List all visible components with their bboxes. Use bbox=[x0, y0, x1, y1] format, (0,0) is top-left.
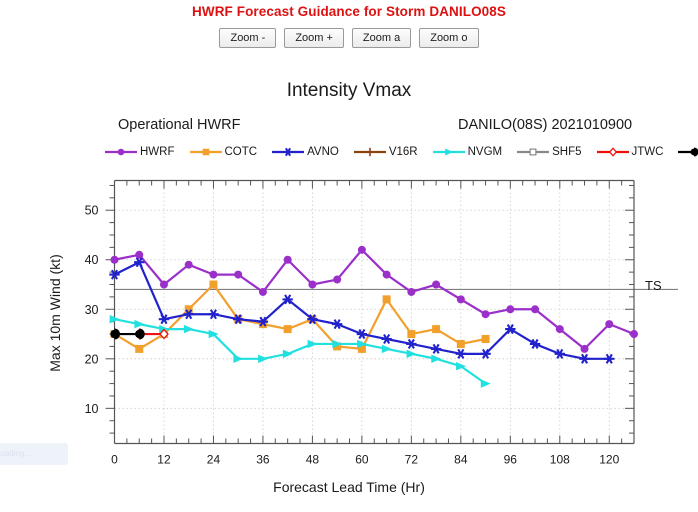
svg-text:12: 12 bbox=[157, 453, 171, 467]
intensity-vmax-chart: 012243648607284961081201020304050 bbox=[0, 0, 698, 512]
svg-text:20: 20 bbox=[85, 352, 99, 366]
svg-text:10: 10 bbox=[85, 402, 99, 416]
y-axis-label: Max 10m Wind (kt) bbox=[47, 213, 63, 413]
svg-text:120: 120 bbox=[599, 453, 619, 467]
svg-text:60: 60 bbox=[355, 453, 369, 467]
status-strip-text: Loading... bbox=[0, 449, 31, 458]
svg-text:36: 36 bbox=[256, 453, 270, 467]
svg-text:50: 50 bbox=[85, 204, 99, 218]
svg-text:96: 96 bbox=[504, 453, 518, 467]
svg-text:108: 108 bbox=[550, 453, 570, 467]
series-best bbox=[110, 329, 144, 340]
svg-text:72: 72 bbox=[405, 453, 419, 467]
svg-text:30: 30 bbox=[85, 303, 99, 317]
svg-text:40: 40 bbox=[85, 253, 99, 267]
svg-text:0: 0 bbox=[111, 453, 118, 467]
svg-text:84: 84 bbox=[454, 453, 468, 467]
x-axis-label: Forecast Lead Time (Hr) bbox=[0, 479, 698, 495]
series-cotc bbox=[111, 281, 490, 353]
ts-threshold-label: TS bbox=[645, 278, 662, 293]
svg-text:24: 24 bbox=[207, 453, 221, 467]
svg-text:48: 48 bbox=[306, 453, 320, 467]
